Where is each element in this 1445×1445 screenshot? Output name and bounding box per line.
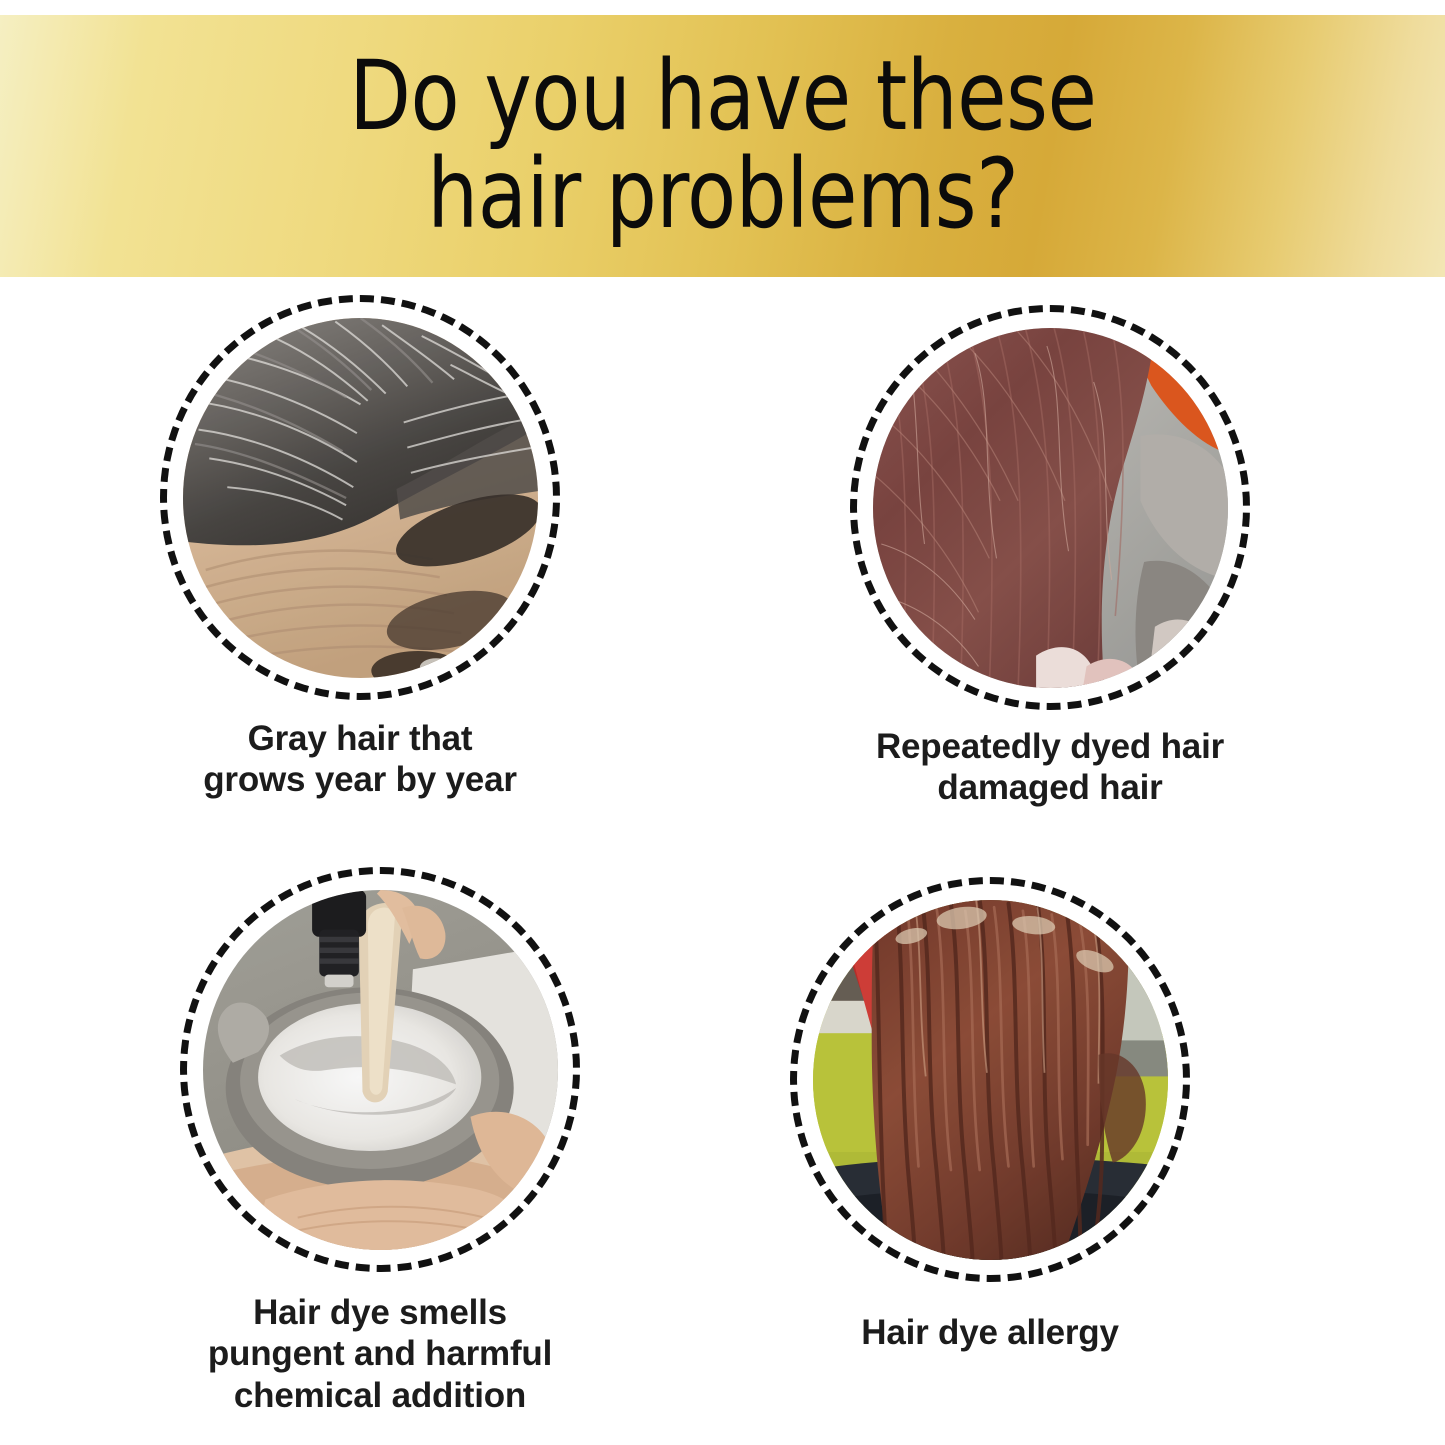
page-title: Do you have these hair problems? — [349, 48, 1096, 244]
card-caption: Gray hair that grows year by year — [203, 718, 517, 801]
problem-card-dye-allergy: Hair dye allergy — [640, 877, 1340, 1353]
header-banner: Do you have these hair problems? — [0, 15, 1445, 277]
caption-line: Repeatedly dyed hair — [876, 726, 1224, 767]
caption-line: pungent and harmful — [208, 1333, 552, 1374]
caption-line: Hair dye smells — [208, 1292, 552, 1333]
gray-hair-hairline-photo — [183, 318, 538, 678]
caption-line: grows year by year — [203, 759, 517, 800]
page-title-line-2: hair problems? — [349, 146, 1096, 244]
caption-line: chemical addition — [208, 1375, 552, 1416]
problem-card-dyed-damaged-hair: Repeatedly dyed hair damaged hair — [700, 305, 1400, 809]
problem-card-pungent-chemicals: Hair dye smells pungent and harmful chem… — [30, 867, 730, 1416]
card-caption: Hair dye allergy — [861, 1312, 1119, 1353]
card-caption: Hair dye smells pungent and harmful chem… — [208, 1292, 552, 1416]
hair-dye-applied-strands-photo — [813, 900, 1168, 1260]
hair-dye-mixing-bowl-photo — [203, 890, 558, 1250]
dashed-circle-frame — [790, 877, 1190, 1282]
caption-line: Gray hair that — [203, 718, 517, 759]
card-caption: Repeatedly dyed hair damaged hair — [876, 726, 1224, 809]
caption-line: Hair dye allergy — [861, 1312, 1119, 1353]
dashed-circle-frame — [850, 305, 1250, 710]
caption-line: damaged hair — [876, 767, 1224, 808]
page-title-line-1: Do you have these — [349, 40, 1096, 152]
dashed-circle-frame — [160, 295, 560, 700]
problem-card-gray-hair: Gray hair that grows year by year — [10, 295, 710, 801]
repeatedly-dyed-damaged-hair-photo — [873, 328, 1228, 688]
dashed-circle-frame — [180, 867, 580, 1272]
problem-card-grid: Gray hair that grows year by year — [0, 277, 1445, 1445]
